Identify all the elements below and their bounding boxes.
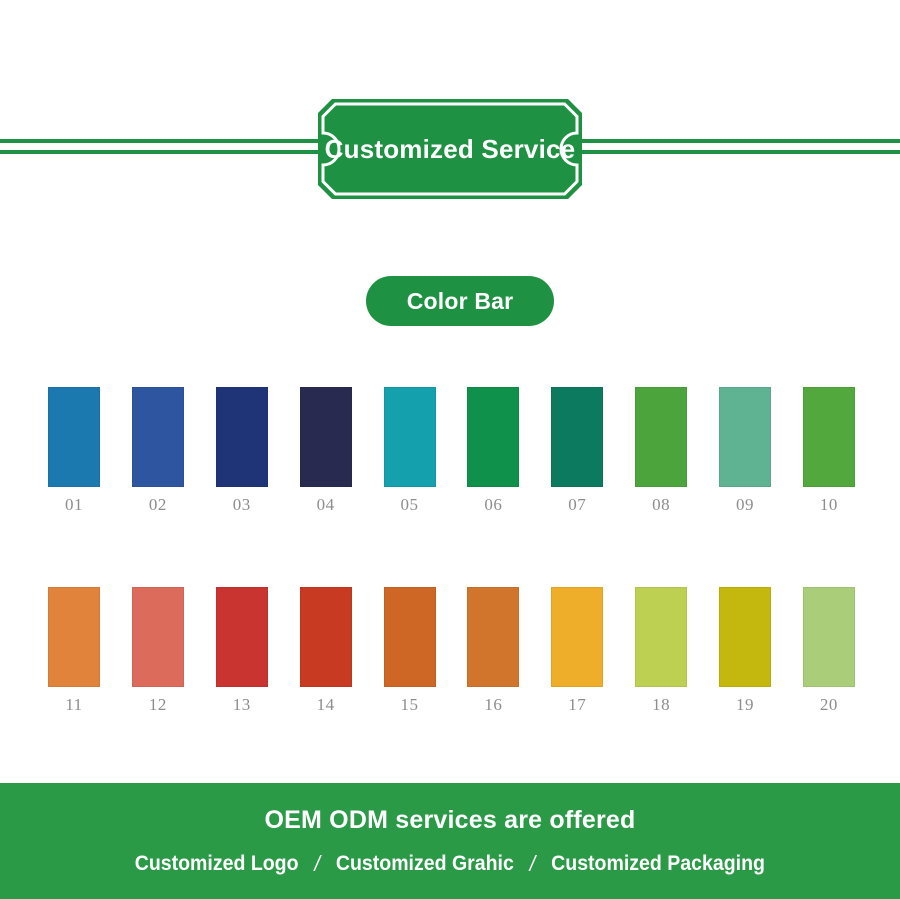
footer-service-packaging: Customized Packaging: [551, 852, 765, 876]
color-swatch-chip[interactable]: [803, 387, 855, 487]
color-swatch-number: 10: [820, 496, 838, 513]
footer-separator-1: /: [315, 851, 321, 877]
color-swatch-number: 18: [652, 696, 670, 713]
color-swatch-chip[interactable]: [216, 387, 268, 487]
color-swatch-chip[interactable]: [719, 587, 771, 687]
color-swatch-number: 20: [820, 696, 838, 713]
color-swatch-number: 07: [568, 496, 586, 513]
color-swatch-chip[interactable]: [48, 387, 100, 487]
color-swatch-18[interactable]: 18: [635, 587, 687, 713]
color-swatch-01[interactable]: 01: [48, 387, 100, 513]
color-swatch-number: 08: [652, 496, 670, 513]
color-swatch-20[interactable]: 20: [803, 587, 855, 713]
color-swatch-chip[interactable]: [132, 587, 184, 687]
color-swatch-row-1: 01020304050607080910: [48, 387, 855, 513]
color-swatch-number: 05: [401, 496, 419, 513]
color-swatch-number: 01: [65, 496, 83, 513]
color-swatch-chip[interactable]: [635, 387, 687, 487]
color-swatch-chip[interactable]: [467, 587, 519, 687]
color-swatch-chip[interactable]: [635, 587, 687, 687]
color-swatch-02[interactable]: 02: [132, 387, 184, 513]
color-swatch-14[interactable]: 14: [300, 587, 352, 713]
color-swatch-number: 06: [484, 496, 502, 513]
color-swatch-number: 03: [233, 496, 251, 513]
color-swatch-number: 14: [317, 696, 335, 713]
color-bar-pill-label: Color Bar: [407, 288, 514, 315]
color-swatch-chip[interactable]: [384, 387, 436, 487]
color-swatch-chip[interactable]: [216, 587, 268, 687]
color-swatch-10[interactable]: 10: [803, 387, 855, 513]
footer-banner: OEM ODM services are offered Customized …: [0, 783, 900, 899]
header-ribbon-plaque: Customized Service: [318, 99, 582, 199]
color-swatch-17[interactable]: 17: [551, 587, 603, 713]
color-swatch-chip[interactable]: [48, 587, 100, 687]
color-swatch-number: 02: [149, 496, 167, 513]
color-swatch-chip[interactable]: [551, 587, 603, 687]
footer-separator-2: /: [530, 851, 536, 877]
color-swatch-chip[interactable]: [467, 387, 519, 487]
color-swatch-number: 09: [736, 496, 754, 513]
color-swatch-number: 15: [401, 696, 419, 713]
color-swatch-number: 16: [484, 696, 502, 713]
color-swatch-13[interactable]: 13: [216, 587, 268, 713]
color-swatch-chip[interactable]: [300, 587, 352, 687]
footer-headline: OEM ODM services are offered: [264, 806, 635, 835]
color-swatch-05[interactable]: 05: [384, 387, 436, 513]
color-swatch-row-2: 11121314151617181920: [48, 587, 855, 713]
color-swatch-16[interactable]: 16: [467, 587, 519, 713]
color-swatch-11[interactable]: 11: [48, 587, 100, 713]
header-ribbon: Customized Service: [0, 0, 900, 230]
color-swatch-chip[interactable]: [300, 387, 352, 487]
color-swatch-number: 04: [317, 496, 335, 513]
color-bar-section-pill: Color Bar: [366, 276, 554, 326]
color-swatch-chip[interactable]: [551, 387, 603, 487]
color-swatch-number: 19: [736, 696, 754, 713]
footer-services-line: Customized Logo / Customized Grahic / Cu…: [135, 851, 765, 877]
color-swatch-number: 11: [65, 696, 82, 713]
color-swatch-04[interactable]: 04: [300, 387, 352, 513]
color-swatch-number: 17: [568, 696, 586, 713]
footer-service-graphic: Customized Grahic: [336, 852, 514, 876]
page-title: Customized Service: [318, 99, 582, 199]
color-swatch-19[interactable]: 19: [719, 587, 771, 713]
color-swatch-12[interactable]: 12: [132, 587, 184, 713]
color-swatch-chip[interactable]: [803, 587, 855, 687]
color-swatch-chip[interactable]: [719, 387, 771, 487]
color-swatch-chip[interactable]: [384, 587, 436, 687]
color-swatch-03[interactable]: 03: [216, 387, 268, 513]
color-swatch-06[interactable]: 06: [467, 387, 519, 513]
footer-service-logo: Customized Logo: [135, 852, 299, 876]
color-swatch-09[interactable]: 09: [719, 387, 771, 513]
color-swatch-15[interactable]: 15: [384, 587, 436, 713]
color-swatch-07[interactable]: 07: [551, 387, 603, 513]
color-swatch-08[interactable]: 08: [635, 387, 687, 513]
color-swatch-number: 12: [149, 696, 167, 713]
color-swatch-chip[interactable]: [132, 387, 184, 487]
color-swatch-number: 13: [233, 696, 251, 713]
